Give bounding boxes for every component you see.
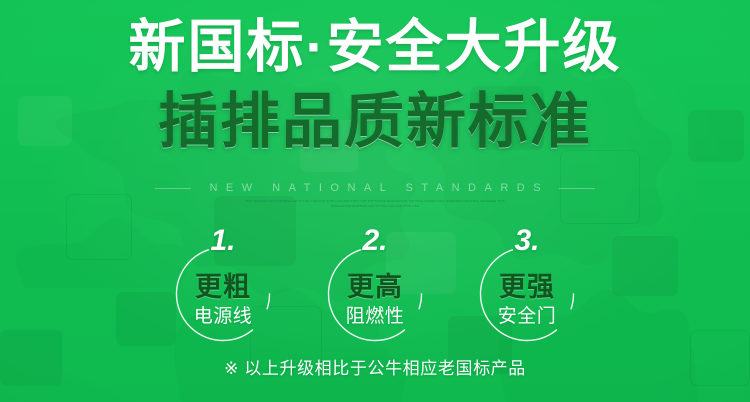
headline-secondary: 插排品质新标准 bbox=[0, 88, 750, 156]
feature-title: 更强 bbox=[477, 272, 577, 302]
headline-primary: 新国标·安全大升级 bbox=[0, 16, 750, 78]
promo-banner: 新国标·安全大升级 插排品质新标准 NEW NATIONAL STANDARDS… bbox=[0, 0, 750, 402]
feature-item: 2. 更高 阻燃性 bbox=[325, 228, 425, 346]
eyebrow-row: NEW NATIONAL STANDARDS bbox=[0, 182, 750, 194]
microcopy-text: THIS NAVIGATION CONTROLLED IN THE CAR FO… bbox=[0, 199, 750, 209]
banner-content: 新国标·安全大升级 插排品质新标准 NEW NATIONAL STANDARDS… bbox=[0, 0, 750, 402]
feature-item: 1. 更粗 电源线 bbox=[173, 228, 273, 346]
feature-number: 1. bbox=[173, 226, 273, 256]
feature-number: 2. bbox=[325, 226, 425, 256]
feature-item: 3. 更强 安全门 bbox=[477, 228, 577, 346]
feature-subtitle: 安全门 bbox=[477, 306, 577, 328]
eyebrow-rule-right bbox=[559, 188, 595, 189]
feature-subtitle: 电源线 bbox=[173, 306, 273, 328]
feature-title: 更高 bbox=[325, 272, 425, 302]
feature-number: 3. bbox=[477, 226, 577, 256]
footnote-text: ※ 以上升级相比于公牛相应老国标产品 bbox=[0, 358, 750, 380]
feature-list: 1. 更粗 电源线 2. 更高 阻燃性 3. 更强 安全门 bbox=[0, 228, 750, 348]
feature-title: 更粗 bbox=[173, 272, 273, 302]
eyebrow-text: NEW NATIONAL STANDARDS bbox=[201, 182, 549, 194]
feature-subtitle: 阻燃性 bbox=[325, 306, 425, 328]
eyebrow-rule-left bbox=[155, 188, 191, 189]
